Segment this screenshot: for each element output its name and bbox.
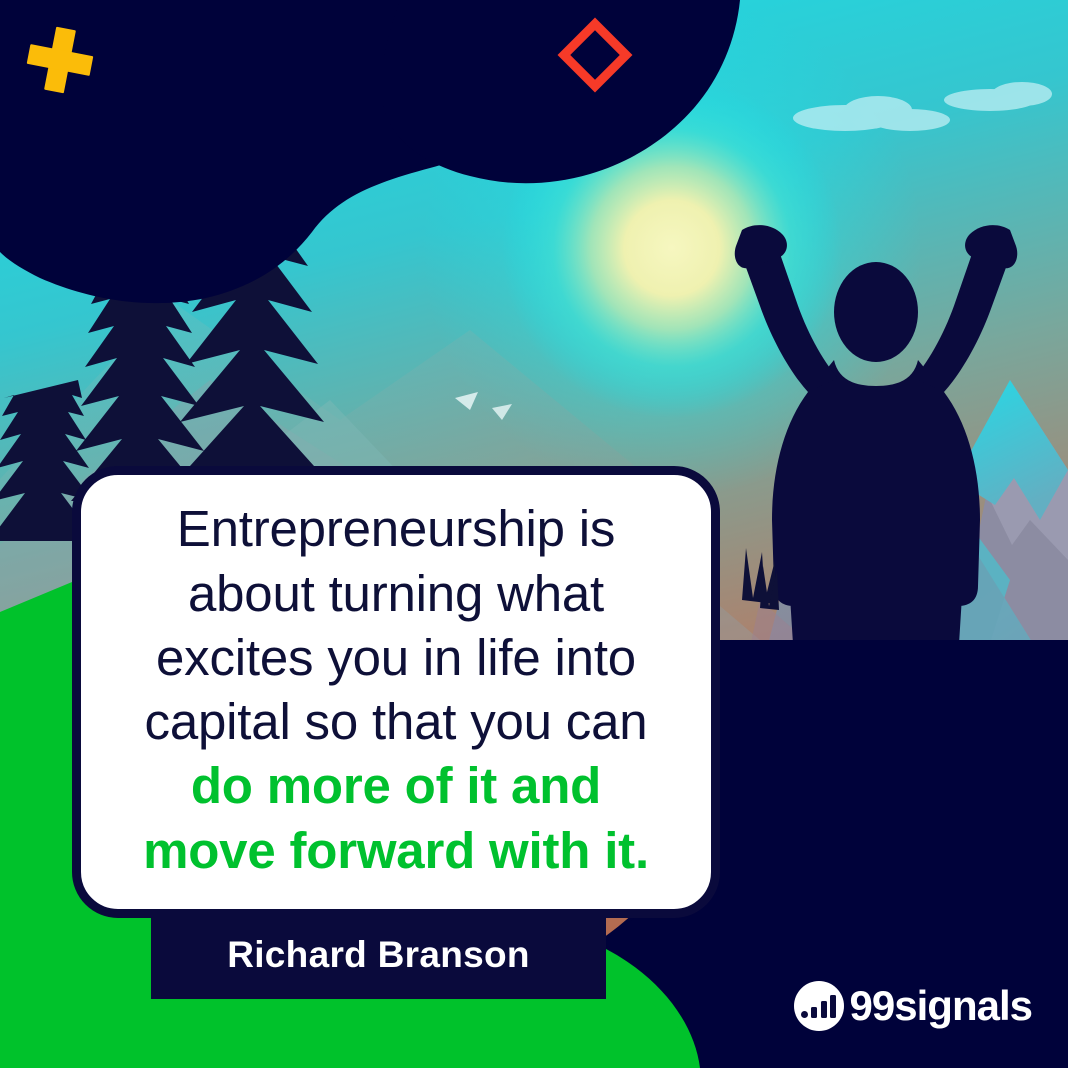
quote-line-4: capital so that you can — [145, 693, 648, 750]
plus-icon — [24, 24, 96, 96]
quote-card: Entrepreneurship is about turning what e… — [72, 466, 720, 918]
author-name: Richard Branson — [227, 934, 530, 976]
quote-highlight-1: do more of it and — [191, 757, 601, 814]
author-bar: Richard Branson — [151, 911, 606, 999]
bar-chart-icon — [794, 981, 844, 1031]
quote-line-1: Entrepreneurship is — [177, 500, 615, 557]
diamond-icon — [556, 16, 634, 94]
quote-line-3: excites you in life into — [156, 629, 636, 686]
quote-line-2: about turning what — [188, 565, 604, 622]
quote-highlight-2: move forward with it. — [143, 822, 649, 879]
quote-text: Entrepreneurship is about turning what e… — [107, 497, 685, 883]
brand-name: 99signals — [850, 982, 1032, 1030]
brand-logo[interactable]: 99signals — [794, 978, 1032, 1034]
quote-poster: Entrepreneurship is about turning what e… — [0, 0, 1068, 1068]
